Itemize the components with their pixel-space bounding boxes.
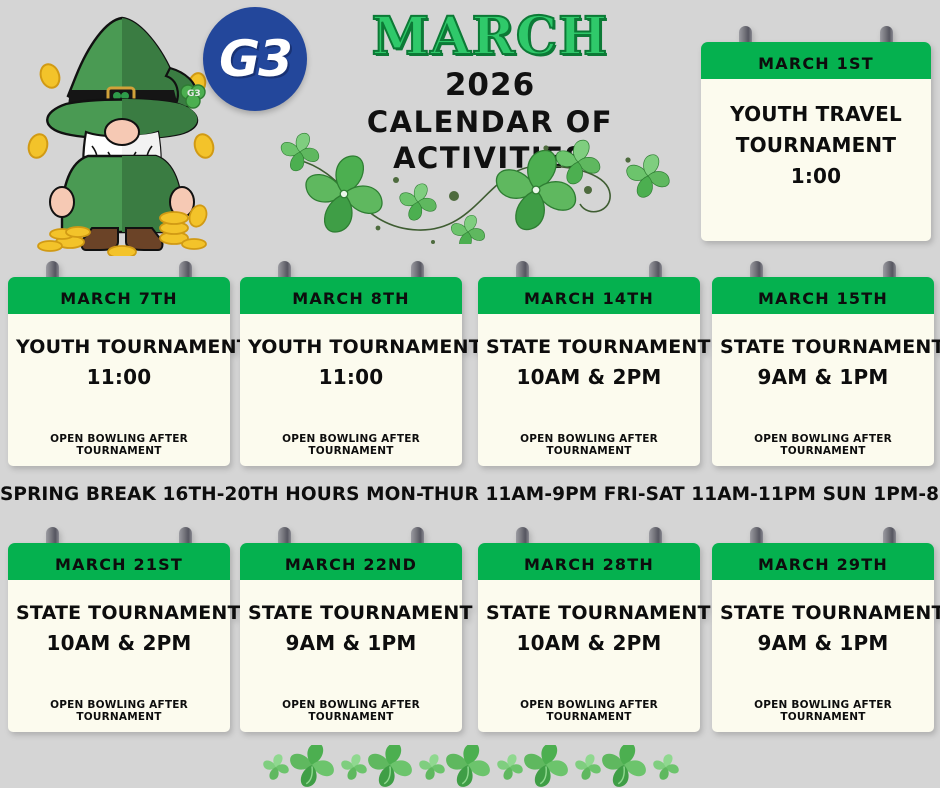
- clover-border-strip-decoration: [262, 745, 682, 788]
- svg-text:G3: G3: [187, 89, 201, 99]
- card-body: STATE TOURNAMENT 10AM & 2PM OPEN BOWLING…: [8, 580, 230, 732]
- card-event-line: 11:00: [248, 362, 454, 392]
- card-event-line: 1:00: [709, 161, 923, 192]
- card-date-label: MARCH 15TH: [758, 283, 888, 308]
- calendar-card-march-21st[interactable]: MARCH 21ST STATE TOURNAMENT 10AM & 2PM O…: [8, 543, 230, 732]
- card-date-label: MARCH 29TH: [758, 549, 888, 574]
- card-body: YOUTH TOURNAMENT 11:00 OPEN BOWLING AFTE…: [8, 314, 230, 466]
- calendar-card-march-14th[interactable]: MARCH 14TH STATE TOURNAMENT 10AM & 2PM O…: [478, 277, 700, 466]
- card-event-line: YOUTH TOURNAMENT: [248, 332, 454, 362]
- card-header: MARCH 22ND: [240, 543, 462, 580]
- card-header: MARCH 28TH: [478, 543, 700, 580]
- card-event-line: STATE TOURNAMENT: [720, 598, 926, 628]
- calendar-card-march-1st[interactable]: MARCH 1ST YOUTH TRAVEL TOURNAMENT 1:00: [701, 42, 931, 241]
- card-header: MARCH 21ST: [8, 543, 230, 580]
- card-event-line: 10AM & 2PM: [486, 628, 692, 658]
- card-event-line: STATE TOURNAMENT: [16, 598, 222, 628]
- card-header: MARCH 8TH: [240, 277, 462, 314]
- card-body: STATE TOURNAMENT 9AM & 1PM OPEN BOWLING …: [712, 314, 934, 466]
- calendar-card-march-28th[interactable]: MARCH 28TH STATE TOURNAMENT 10AM & 2PM O…: [478, 543, 700, 732]
- card-event-lines: YOUTH TRAVEL TOURNAMENT 1:00: [709, 99, 923, 235]
- card-event-line: STATE TOURNAMENT: [248, 598, 454, 628]
- card-event-line: 9AM & 1PM: [720, 628, 926, 658]
- card-event-lines: STATE TOURNAMENT 10AM & 2PM: [486, 598, 692, 699]
- gnome-left-hand: [50, 187, 74, 217]
- card-date-label: MARCH 8TH: [292, 283, 410, 308]
- calendar-card-march-7th[interactable]: MARCH 7TH YOUTH TOURNAMENT 11:00 OPEN BO…: [8, 277, 230, 466]
- card-event-lines: STATE TOURNAMENT 10AM & 2PM: [486, 332, 692, 433]
- card-event-lines: STATE TOURNAMENT 9AM & 1PM: [720, 598, 926, 699]
- card-event-line: STATE TOURNAMENT: [720, 332, 926, 362]
- poster-canvas: G3: [0, 0, 940, 788]
- card-event-line: 9AM & 1PM: [248, 628, 454, 658]
- calendar-card-march-15th[interactable]: MARCH 15TH STATE TOURNAMENT 9AM & 1PM OP…: [712, 277, 934, 466]
- calendar-card-march-8th[interactable]: MARCH 8TH YOUTH TOURNAMENT 11:00 OPEN BO…: [240, 277, 462, 466]
- card-body: STATE TOURNAMENT 10AM & 2PM OPEN BOWLING…: [478, 314, 700, 466]
- card-event-line: TOURNAMENT: [709, 130, 923, 161]
- card-event-line: 9AM & 1PM: [720, 362, 926, 392]
- card-body: STATE TOURNAMENT 10AM & 2PM OPEN BOWLING…: [478, 580, 700, 732]
- card-footnote: OPEN BOWLING AFTER TOURNAMENT: [16, 433, 222, 460]
- calendar-card-march-22nd[interactable]: MARCH 22ND STATE TOURNAMENT 9AM & 1PM OP…: [240, 543, 462, 732]
- card-event-line: 11:00: [16, 362, 222, 392]
- card-date-label: MARCH 7TH: [60, 283, 178, 308]
- card-date-label: MARCH 22ND: [285, 549, 417, 574]
- card-body: STATE TOURNAMENT 9AM & 1PM OPEN BOWLING …: [712, 580, 934, 732]
- card-date-label: MARCH 21ST: [55, 549, 183, 574]
- card-event-line: 10AM & 2PM: [16, 628, 222, 658]
- card-date-label: MARCH 28TH: [524, 549, 654, 574]
- card-event-line: STATE TOURNAMENT: [486, 332, 692, 362]
- card-event-lines: YOUTH TOURNAMENT 11:00: [248, 332, 454, 433]
- spring-break-hours-notice: SPRING BREAK 16TH-20TH HOURS MON-THUR 11…: [0, 484, 940, 505]
- card-event-line: YOUTH TOURNAMENT: [16, 332, 222, 362]
- card-event-lines: STATE TOURNAMENT 9AM & 1PM: [720, 332, 926, 433]
- card-footnote: OPEN BOWLING AFTER TOURNAMENT: [486, 433, 692, 460]
- card-body: YOUTH TOURNAMENT 11:00 OPEN BOWLING AFTE…: [240, 314, 462, 466]
- card-body: YOUTH TRAVEL TOURNAMENT 1:00: [701, 79, 931, 241]
- card-event-lines: STATE TOURNAMENT 10AM & 2PM: [16, 598, 222, 699]
- calendar-card-march-29th[interactable]: MARCH 29TH STATE TOURNAMENT 9AM & 1PM OP…: [712, 543, 934, 732]
- four-leaf-clover-vine-icon: [278, 132, 678, 244]
- page-title-month: MARCH: [280, 8, 700, 66]
- card-event-lines: STATE TOURNAMENT 9AM & 1PM: [248, 598, 454, 699]
- clover-strip-icon: [262, 745, 682, 788]
- card-footnote: OPEN BOWLING AFTER TOURNAMENT: [248, 699, 454, 726]
- gnome-icon: G3: [22, 6, 222, 256]
- card-header: MARCH 14TH: [478, 277, 700, 314]
- card-footnote: OPEN BOWLING AFTER TOURNAMENT: [248, 433, 454, 460]
- card-event-line: YOUTH TRAVEL: [709, 99, 923, 130]
- card-header: MARCH 1ST: [701, 42, 931, 79]
- card-header: MARCH 7TH: [8, 277, 230, 314]
- card-footnote: OPEN BOWLING AFTER TOURNAMENT: [486, 699, 692, 726]
- card-header: MARCH 29TH: [712, 543, 934, 580]
- card-event-lines: YOUTH TOURNAMENT 11:00: [16, 332, 222, 433]
- page-title-year: 2026: [280, 66, 700, 104]
- card-event-line: 10AM & 2PM: [486, 362, 692, 392]
- card-footnote: OPEN BOWLING AFTER TOURNAMENT: [16, 699, 222, 726]
- card-footnote: OPEN BOWLING AFTER TOURNAMENT: [720, 433, 926, 460]
- card-date-label: MARCH 14TH: [524, 283, 654, 308]
- card-event-line: STATE TOURNAMENT: [486, 598, 692, 628]
- card-date-label: MARCH 1ST: [758, 48, 874, 73]
- gnome-mascot-illustration: G3: [22, 6, 222, 256]
- card-body: STATE TOURNAMENT 9AM & 1PM OPEN BOWLING …: [240, 580, 462, 732]
- card-footnote: OPEN BOWLING AFTER TOURNAMENT: [720, 699, 926, 726]
- clover-vine-decoration: [278, 132, 678, 244]
- gnome-nose: [105, 119, 139, 145]
- card-header: MARCH 15TH: [712, 277, 934, 314]
